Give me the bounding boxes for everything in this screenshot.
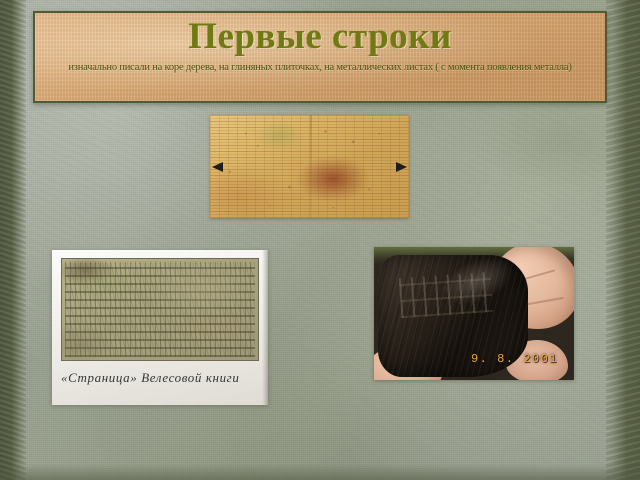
book-page-caption: «Страница» Велесовой книги bbox=[61, 370, 259, 386]
image-velesova-kniga-page[interactable]: «Страница» Велесовой книги bbox=[52, 250, 268, 405]
codex-left-arrow-icon bbox=[212, 162, 223, 172]
title-banner: Первые строки изначально писали на коре … bbox=[33, 11, 607, 103]
presentation-slide: Первые строки изначально писали на коре … bbox=[0, 0, 640, 480]
background-left-edge-band bbox=[0, 0, 26, 480]
slide-title: Первые строки bbox=[188, 16, 452, 58]
tablet-surface-sheen bbox=[62, 259, 258, 360]
photo-date-stamp: 9. 8. 2001 bbox=[471, 352, 558, 366]
image-charred-artifact[interactable]: 9. 8. 2001 bbox=[374, 247, 574, 380]
book-page-edge bbox=[262, 250, 268, 405]
codex-right-arrow-icon bbox=[396, 162, 407, 172]
background-bottom-shadow bbox=[0, 464, 640, 480]
codex-center-fold bbox=[310, 115, 312, 218]
image-ancient-codex[interactable] bbox=[210, 115, 409, 218]
background-right-edge-band bbox=[606, 0, 640, 480]
slide-subtitle: изначально писали на коре дерева, на гли… bbox=[46, 60, 594, 75]
wooden-tablet-photo bbox=[61, 258, 259, 361]
